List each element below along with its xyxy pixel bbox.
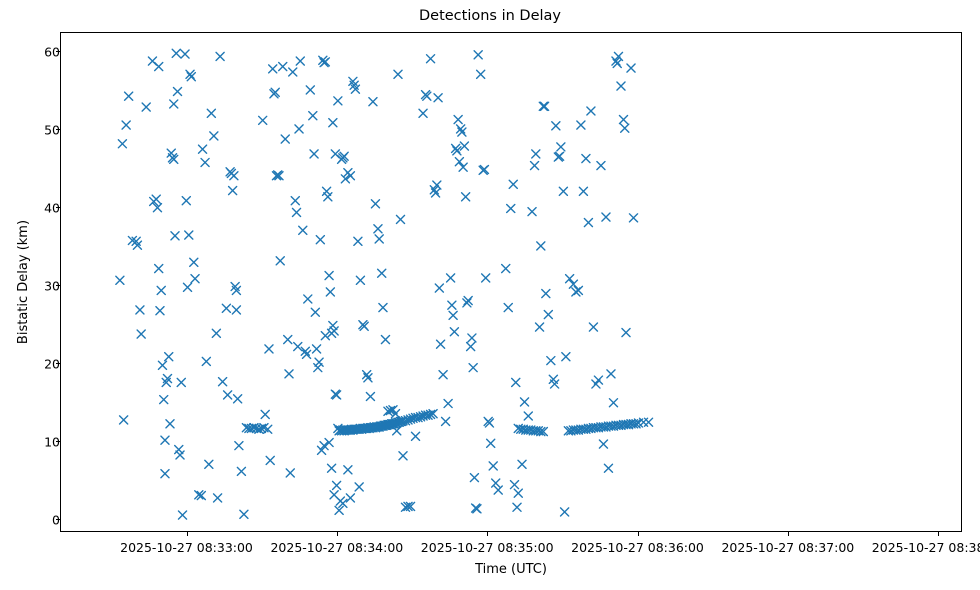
x-axis-label: Time (UTC) [60,562,962,577]
y-axis-tick-mark [56,51,60,52]
y-axis-tick-mark [56,519,60,520]
x-axis-tick-label: 2025-10-27 08:38:00 [853,540,980,555]
plot-area [60,32,962,532]
x-axis-tick-label: 2025-10-27 08:37:00 [703,540,873,555]
y-axis-tick-mark [56,363,60,364]
y-axis-tick-mark [56,441,60,442]
x-axis-tick-mark [938,532,939,536]
x-axis-tick-mark [638,532,639,536]
x-axis-tick-label: 2025-10-27 08:34:00 [252,540,422,555]
y-axis-tick-mark [56,285,60,286]
y-axis-tick-mark [56,207,60,208]
x-axis-tick-label: 2025-10-27 08:35:00 [402,540,572,555]
figure-canvas: Detections in Delay 0102030405060 2025-1… [0,0,980,590]
x-axis-tick-label: 2025-10-27 08:36:00 [553,540,723,555]
y-axis-label: Bistatic Delay (km) [16,32,36,532]
x-axis-tick-mark [487,532,488,536]
x-axis-tick-mark [788,532,789,536]
x-axis-ticks: 2025-10-27 08:33:002025-10-27 08:34:0020… [0,532,980,562]
x-axis-tick-mark [337,532,338,536]
x-axis-tick-label: 2025-10-27 08:33:00 [102,540,272,555]
chart-title: Detections in Delay [0,8,980,24]
x-axis-tick-mark [187,532,188,536]
scatter-series [61,33,962,532]
y-axis-tick-mark [56,129,60,130]
